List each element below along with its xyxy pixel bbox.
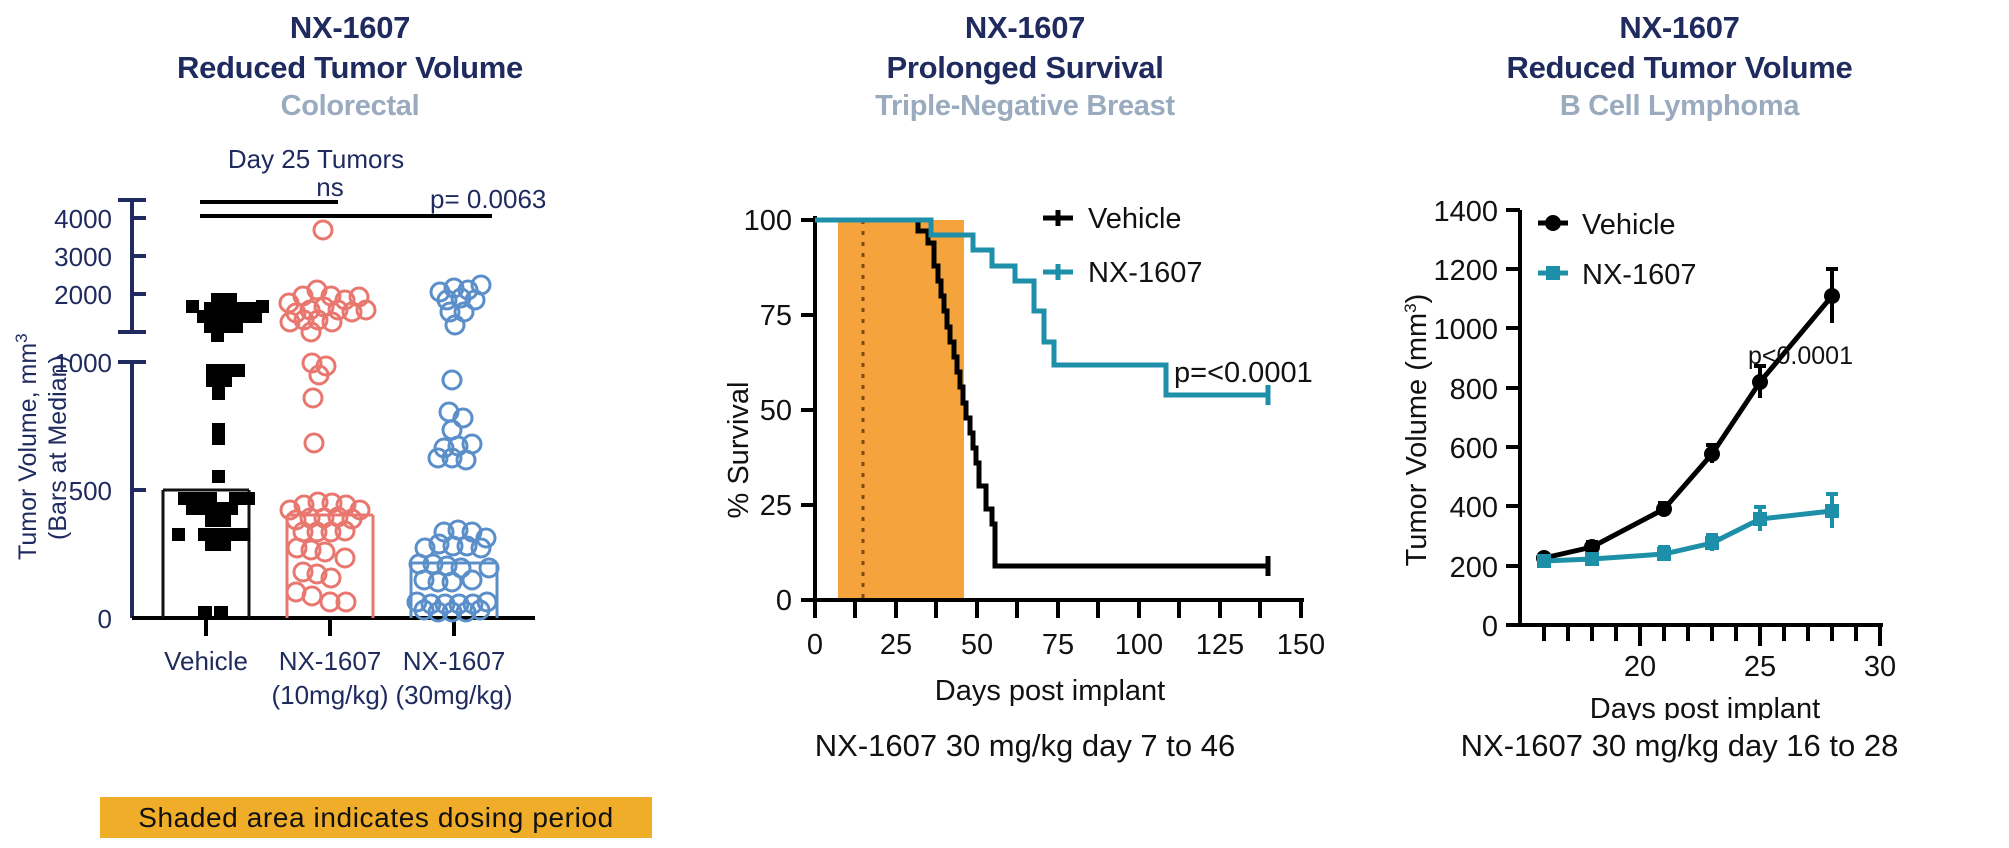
panel2-legend-label-vehicle: Vehicle bbox=[1088, 203, 1182, 235]
panel1-points-vehicle bbox=[172, 293, 269, 619]
panel3-ytick-200: 200 bbox=[1450, 552, 1498, 584]
panel1-plot-title: Day 25 Tumors bbox=[228, 144, 404, 174]
panel1-annotation-ns: ns bbox=[316, 172, 343, 202]
panel1-xlabel-nx30-line1: NX-1607 bbox=[403, 646, 506, 676]
panel3-xtick-25: 25 bbox=[1744, 651, 1776, 683]
panel2-ytick-50: 50 bbox=[760, 395, 792, 427]
panel3-legend-label-vehicle: Vehicle bbox=[1582, 209, 1676, 241]
panel1-points-nx1607-10 bbox=[280, 221, 375, 611]
panel3-legend-label-nx1607: NX-1607 bbox=[1582, 259, 1696, 291]
panel3-ytick-1200: 1200 bbox=[1433, 255, 1498, 287]
panel2-legend-label-nx1607: NX-1607 bbox=[1088, 257, 1202, 289]
panel2-xtick-100: 100 bbox=[1115, 629, 1163, 661]
panel1-ytick-500: 500 bbox=[69, 476, 112, 506]
chart-tumor-growth: 1400 1200 1000 800 600 400 200 0 20 25 bbox=[1350, 160, 2009, 720]
panel3-ytick-1400: 1400 bbox=[1433, 196, 1498, 228]
panel1-ylabel-line1: Tumor Volume, mm3 bbox=[12, 333, 42, 560]
dosing-period-legend: Shaded area indicates dosing period bbox=[100, 797, 652, 838]
chart-survival-km: 100 75 50 25 0 0 25 50 75 100 125 150 Da… bbox=[700, 160, 1350, 720]
panel3-xtick-20: 20 bbox=[1624, 651, 1656, 683]
panel-colorectal: NX-1607 Reduced Tumor Volume Colorectal … bbox=[0, 0, 700, 848]
panel3-legend: Vehicle NX-1607 bbox=[1538, 209, 1696, 291]
panel2-annotation-pvalue: p=<0.0001 bbox=[1174, 357, 1313, 389]
panel1-ytick-2000: 2000 bbox=[54, 280, 112, 310]
panel2-ytick-75: 75 bbox=[760, 300, 792, 332]
panel3-legend-marker-vehicle bbox=[1545, 215, 1561, 231]
panel2-xaxis-title: Days post implant bbox=[935, 675, 1166, 707]
panel1-title-line1: NX-1607 bbox=[0, 8, 700, 48]
panel3-line-vehicle bbox=[1544, 296, 1832, 558]
panel2-xtick-0: 0 bbox=[807, 629, 823, 661]
panel3-xaxis-title: Days post implant bbox=[1590, 693, 1821, 720]
panel1-bar-nx1607-10 bbox=[287, 515, 373, 618]
panel2-title-block: NX-1607 Prolonged Survival Triple-Negati… bbox=[700, 0, 1350, 126]
panel1-subtitle: Colorectal bbox=[0, 87, 700, 126]
panel2-xtick-75: 75 bbox=[1042, 629, 1074, 661]
panel1-annotation-pvalue: p= 0.0063 bbox=[430, 184, 546, 214]
panel-bcell-lymphoma: NX-1607 Reduced Tumor Volume B Cell Lymp… bbox=[1350, 0, 2009, 848]
panel2-title-line2: Prolonged Survival bbox=[700, 48, 1350, 88]
panel2-yaxis-title: % Survival bbox=[723, 382, 755, 519]
panel2-dosing-shade bbox=[838, 220, 964, 600]
panel2-title-line1: NX-1607 bbox=[700, 8, 1350, 48]
panel3-ytick-600: 600 bbox=[1450, 433, 1498, 465]
panel3-markers-vehicle bbox=[1536, 288, 1840, 566]
panel3-caption: NX-1607 30 mg/kg day 16 to 28 bbox=[1350, 728, 2009, 764]
panel3-subtitle: B Cell Lymphoma bbox=[1350, 87, 2009, 126]
panel2-ytick-25: 25 bbox=[760, 490, 792, 522]
panel1-ytick-1000: 1000 bbox=[54, 348, 112, 378]
chart-colorectal-scatter: Tumor Volume, mm3 (Bars at Median) 4000 … bbox=[0, 140, 700, 760]
panel-tnbc: NX-1607 Prolonged Survival Triple-Negati… bbox=[700, 0, 1350, 848]
panel1-ytick-0: 0 bbox=[98, 604, 112, 634]
panel1-title-line2: Reduced Tumor Volume bbox=[0, 48, 700, 88]
panel3-ytick-400: 400 bbox=[1450, 492, 1498, 524]
panel3-title-block: NX-1607 Reduced Tumor Volume B Cell Lymp… bbox=[1350, 0, 2009, 126]
panel1-points-nx1607-30 bbox=[408, 276, 498, 621]
panel3-ytick-0: 0 bbox=[1482, 611, 1498, 643]
panel3-yaxis-title: Tumor Volume (mm3) bbox=[1401, 294, 1433, 567]
panel3-legend-marker-nx1607 bbox=[1546, 266, 1560, 280]
dosing-period-legend-text: Shaded area indicates dosing period bbox=[138, 802, 614, 834]
panel3-xtick-30: 30 bbox=[1864, 651, 1896, 683]
panel2-xtick-125: 125 bbox=[1196, 629, 1244, 661]
panel1-ytick-4000: 4000 bbox=[54, 204, 112, 234]
panel1-ylabel-line2: (Bars at Median) bbox=[44, 355, 72, 540]
panel1-xlabel-vehicle: Vehicle bbox=[164, 646, 248, 676]
panel3-annotation-pvalue: p<0.0001 bbox=[1748, 342, 1853, 370]
panel2-xtick-25: 25 bbox=[880, 629, 912, 661]
panel2-xtick-50: 50 bbox=[961, 629, 993, 661]
panel3-errorbars-vehicle bbox=[1544, 269, 1838, 562]
panel1-ytick-3000: 3000 bbox=[54, 242, 112, 272]
panel2-legend: Vehicle NX-1607 bbox=[1043, 203, 1202, 289]
panel3-title-line2: Reduced Tumor Volume bbox=[1350, 48, 2009, 88]
panel1-xlabel-nx30-line2: (30mg/kg) bbox=[395, 680, 512, 710]
panel2-xtick-150: 150 bbox=[1277, 629, 1325, 661]
panel2-ytick-0: 0 bbox=[776, 585, 792, 617]
panel3-ytick-800: 800 bbox=[1450, 374, 1498, 406]
panel1-xlabel-nx10-line2: (10mg/kg) bbox=[271, 680, 388, 710]
panel3-title-line1: NX-1607 bbox=[1350, 8, 2009, 48]
panel1-xlabel-nx10-line1: NX-1607 bbox=[279, 646, 382, 676]
panel2-caption: NX-1607 30 mg/kg day 7 to 46 bbox=[700, 728, 1350, 764]
panel2-subtitle: Triple-Negative Breast bbox=[700, 87, 1350, 126]
panel2-ytick-100: 100 bbox=[744, 205, 792, 237]
panel1-title-block: NX-1607 Reduced Tumor Volume Colorectal bbox=[0, 0, 700, 126]
panel3-ytick-1000: 1000 bbox=[1433, 314, 1498, 346]
